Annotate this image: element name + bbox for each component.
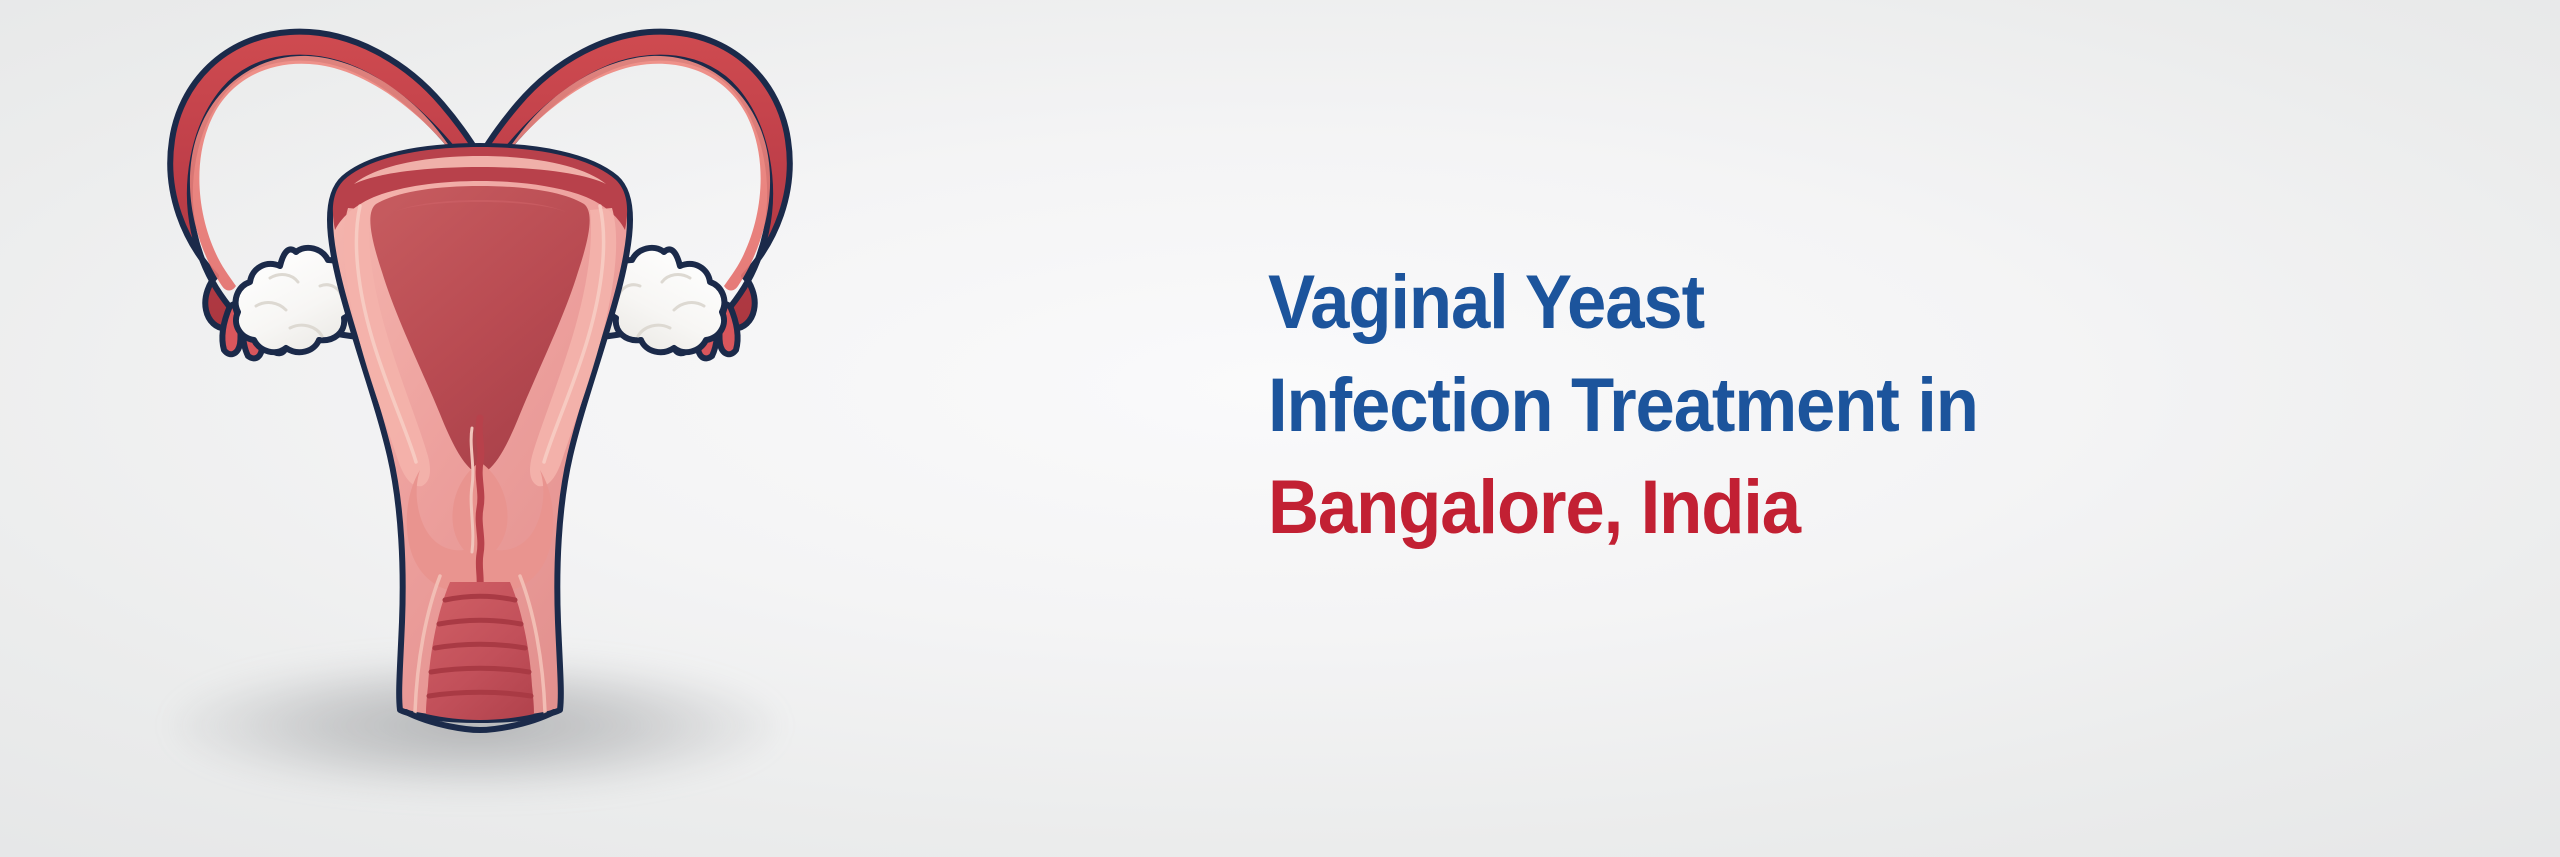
headline-line-2: Infection Treatment in [1268,355,2365,458]
female-reproductive-system-illustration [120,10,840,800]
cervical-canal-highlight [471,428,473,552]
illustration-container [120,10,840,800]
headline-line-1: Vaginal Yeast [1268,252,2365,355]
headline-line-3: Bangalore, India [1268,457,2365,560]
banner: Vaginal Yeast Infection Treatment in Ban… [0,0,2560,857]
cervical-canal [479,418,481,586]
headline-block: Vaginal Yeast Infection Treatment in Ban… [1268,252,2448,560]
